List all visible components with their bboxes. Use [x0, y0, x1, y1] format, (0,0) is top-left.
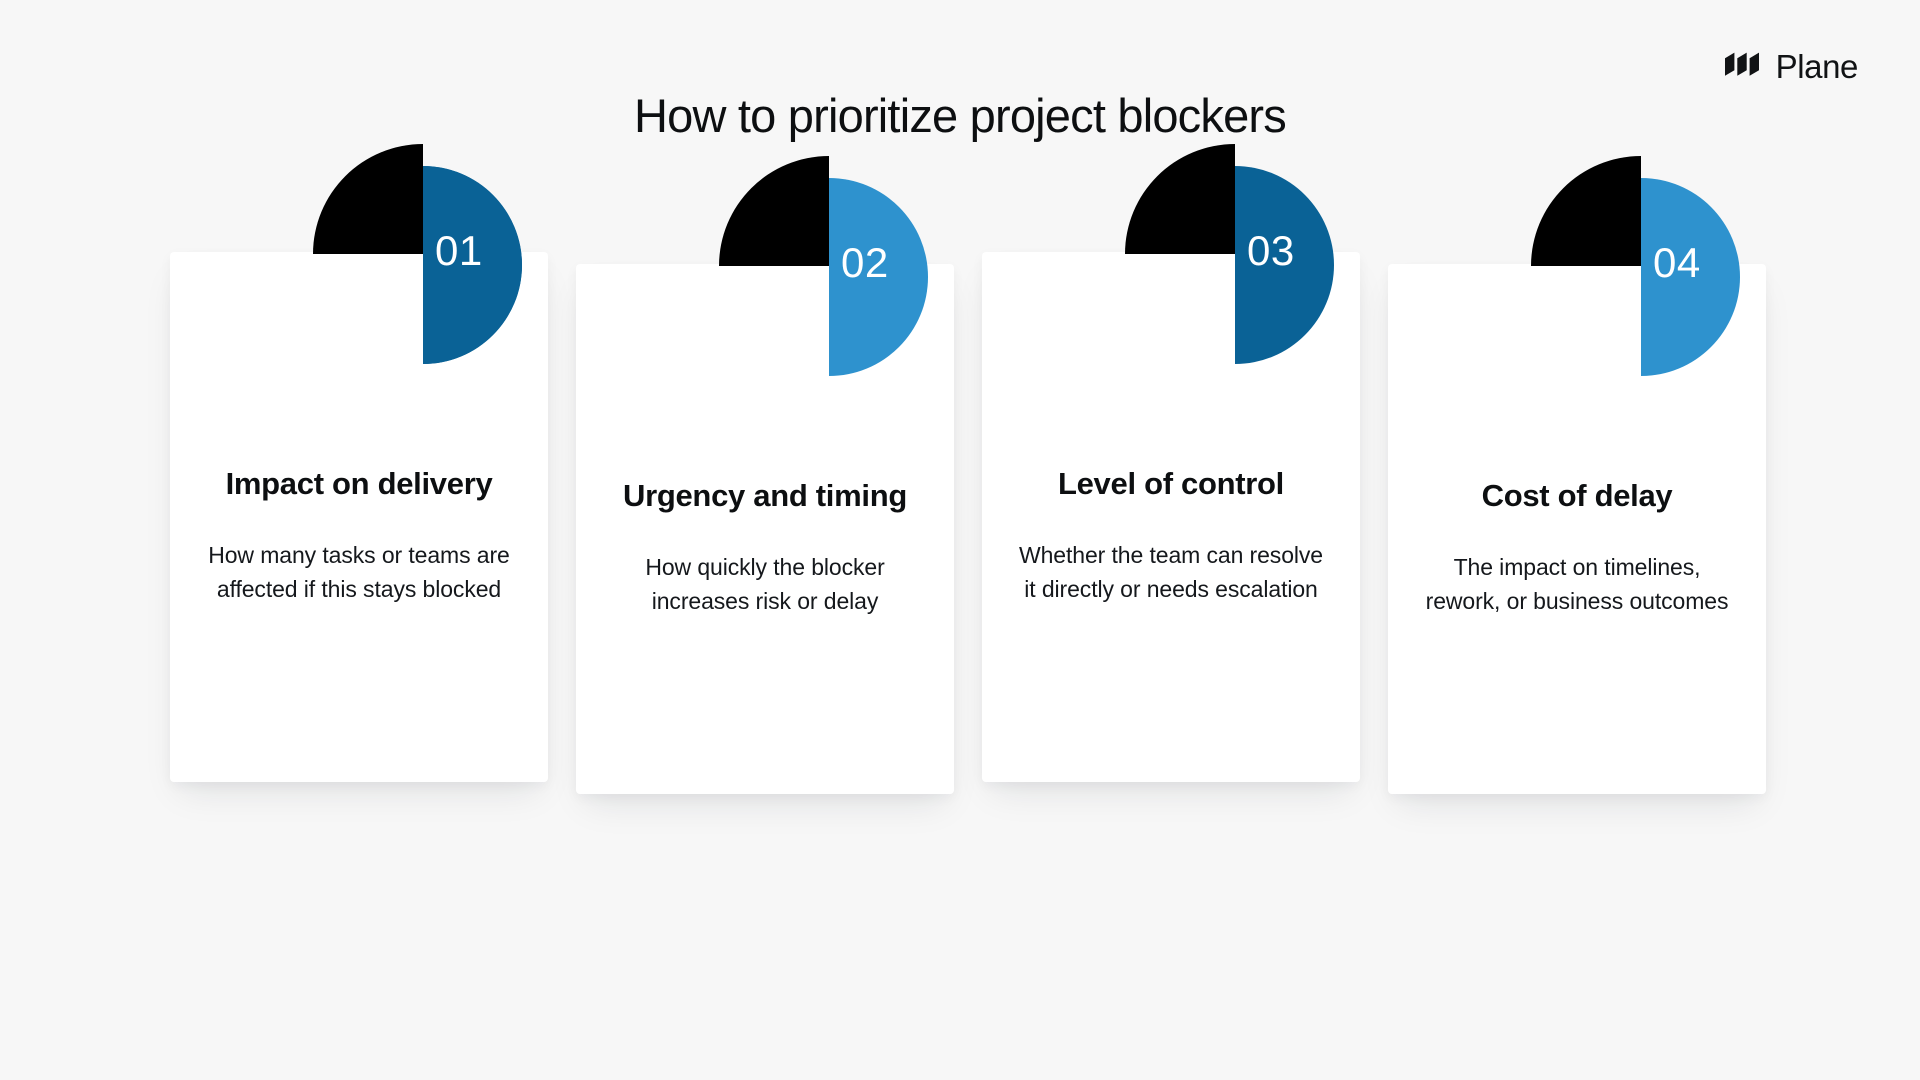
step-badge-icon: 01	[313, 144, 533, 364]
card-heading: Impact on delivery	[204, 464, 514, 503]
step-badge-icon: 02	[719, 156, 939, 376]
card-item[interactable]: 04 Cost of delay The impact on timelines…	[1388, 264, 1766, 794]
card-body: Cost of delay The impact on timelines, r…	[1388, 476, 1766, 619]
step-number: 04	[1653, 242, 1701, 284]
card-heading: Urgency and timing	[610, 476, 920, 515]
card-description: Whether the team can resolve it directly…	[1016, 539, 1326, 607]
step-number: 02	[841, 242, 889, 284]
card-slot: 04 Cost of delay The impact on timelines…	[1388, 262, 1766, 872]
page-title: How to prioritize project blockers	[0, 88, 1920, 143]
card-body: Urgency and timing How quickly the block…	[576, 476, 954, 619]
step-badge-icon: 03	[1125, 144, 1345, 364]
brand-name: Plane	[1776, 50, 1858, 83]
card-item[interactable]: 02 Urgency and timing How quickly the bl…	[576, 264, 954, 794]
card-body: Level of control Whether the team can re…	[982, 464, 1360, 607]
card-item[interactable]: 03 Level of control Whether the team can…	[982, 252, 1360, 782]
card-description: How many tasks or teams are affected if …	[204, 539, 514, 607]
plane-logo-icon	[1723, 51, 1763, 83]
card-body: Impact on delivery How many tasks or tea…	[170, 464, 548, 607]
step-number: 01	[435, 230, 483, 272]
card-row: 01 Impact on delivery How many tasks or …	[150, 250, 1790, 860]
card-slot: 02 Urgency and timing How quickly the bl…	[576, 262, 954, 872]
card-description: The impact on timelines, rework, or busi…	[1422, 551, 1732, 619]
card-item[interactable]: 01 Impact on delivery How many tasks or …	[170, 252, 548, 782]
card-description: How quickly the blocker increases risk o…	[610, 551, 920, 619]
step-badge-icon: 04	[1531, 156, 1751, 376]
step-number: 03	[1247, 230, 1295, 272]
card-heading: Level of control	[1016, 464, 1326, 503]
card-heading: Cost of delay	[1422, 476, 1732, 515]
infographic-canvas: Plane How to prioritize project blockers…	[0, 0, 1920, 1080]
card-slot: 03 Level of control Whether the team can…	[982, 250, 1360, 860]
card-slot: 01 Impact on delivery How many tasks or …	[170, 250, 548, 860]
brand-lockup: Plane	[1723, 50, 1858, 83]
